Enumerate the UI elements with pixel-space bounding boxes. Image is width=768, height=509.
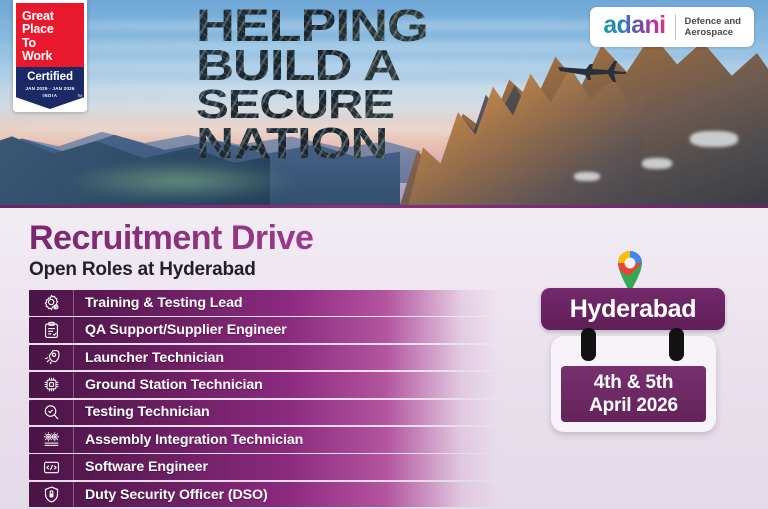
role-label: Testing Technician: [74, 404, 210, 420]
calendar-ring: [669, 328, 684, 361]
badge-certified-label: Certified: [16, 71, 84, 83]
badge-line-2: Place: [22, 23, 78, 37]
role-label: Ground Station Technician: [74, 377, 263, 393]
headline-line-2: BUILD A: [196, 47, 484, 85]
list-item[interactable]: Ground Station Technician: [29, 372, 499, 398]
gears-icon: [29, 427, 74, 453]
badge-line-4: Work: [22, 50, 78, 64]
list-item[interactable]: Software Engineer: [29, 454, 499, 480]
badge-top: Great Place To Work: [16, 3, 84, 67]
snow-patch: [642, 158, 672, 169]
logo-divider: [675, 14, 676, 40]
badge-validity-dates: JAN 2025 - JAN 2026: [16, 86, 84, 91]
adani-wordmark: adani: [603, 13, 665, 41]
badge-bottom: Certified JAN 2025 - JAN 2026 INDIA TM: [16, 67, 84, 109]
event-date-line-2: April 2026: [589, 394, 678, 417]
title-main: Recruitment Drive: [29, 220, 313, 256]
role-label: Duty Security Officer (DSO): [74, 487, 268, 503]
magnifier-check-icon: [29, 400, 74, 426]
title-sub: Open Roles at Hyderabad: [29, 259, 313, 281]
division-line-1: Defence and: [685, 16, 742, 28]
recruitment-poster: Great Place To Work Certified JAN 2025 -…: [0, 0, 768, 509]
list-item[interactable]: Assembly Integration Technician: [29, 427, 499, 453]
clipboard-check-icon: [29, 317, 74, 343]
headline-line-3: SECURE: [196, 87, 484, 123]
city-name: Hyderabad: [570, 295, 697, 324]
map-pin-icon: [612, 246, 648, 292]
rocket-icon: [29, 345, 74, 371]
adani-division-name: Defence and Aerospace: [685, 16, 742, 39]
list-item[interactable]: Training & Testing Lead: [29, 290, 499, 316]
list-item[interactable]: Testing Technician: [29, 400, 499, 426]
badge-line-3: To: [22, 37, 78, 51]
role-label: QA Support/Supplier Engineer: [74, 322, 287, 338]
snow-patch: [690, 131, 738, 147]
hero-headline: HELPING BUILD A SECURE NATION: [196, 6, 436, 165]
gear-check-icon: [29, 290, 74, 316]
division-line-2: Aerospace: [685, 27, 742, 39]
drone-icon: [556, 58, 628, 84]
role-label: Launcher Technician: [74, 350, 224, 366]
role-label: Software Engineer: [74, 459, 208, 475]
badge-trademark: TM: [77, 94, 82, 98]
code-brackets-icon: [29, 454, 74, 480]
great-place-to-work-badge: Great Place To Work Certified JAN 2025 -…: [13, 0, 87, 112]
event-date-card: 4th & 5th April 2026: [551, 336, 716, 432]
page-title: Recruitment Drive Open Roles at Hyderaba…: [29, 220, 313, 281]
badge-line-1: Great: [22, 10, 78, 24]
snow-patch: [574, 172, 600, 181]
calendar-ring: [581, 328, 596, 361]
city-badge: Hyderabad: [541, 288, 725, 330]
date-panel: 4th & 5th April 2026: [561, 366, 706, 422]
role-label: Assembly Integration Technician: [74, 432, 303, 448]
list-item[interactable]: Duty Security Officer (DSO): [29, 482, 499, 508]
list-item[interactable]: QA Support/Supplier Engineer: [29, 317, 499, 343]
badge-country: INDIA: [16, 93, 84, 98]
chip-icon: [29, 372, 74, 398]
headline-line-1: HELPING: [196, 6, 484, 45]
event-date-line-1: 4th & 5th: [594, 371, 673, 394]
list-item[interactable]: Launcher Technician: [29, 345, 499, 371]
headline-line-4: NATION: [196, 125, 484, 163]
adani-logo: adani Defence and Aerospace: [590, 7, 754, 47]
open-roles-list: Training & Testing Lead QA Support/Suppl…: [29, 290, 499, 509]
shield-lock-icon: [29, 482, 74, 508]
role-label: Training & Testing Lead: [74, 295, 242, 311]
